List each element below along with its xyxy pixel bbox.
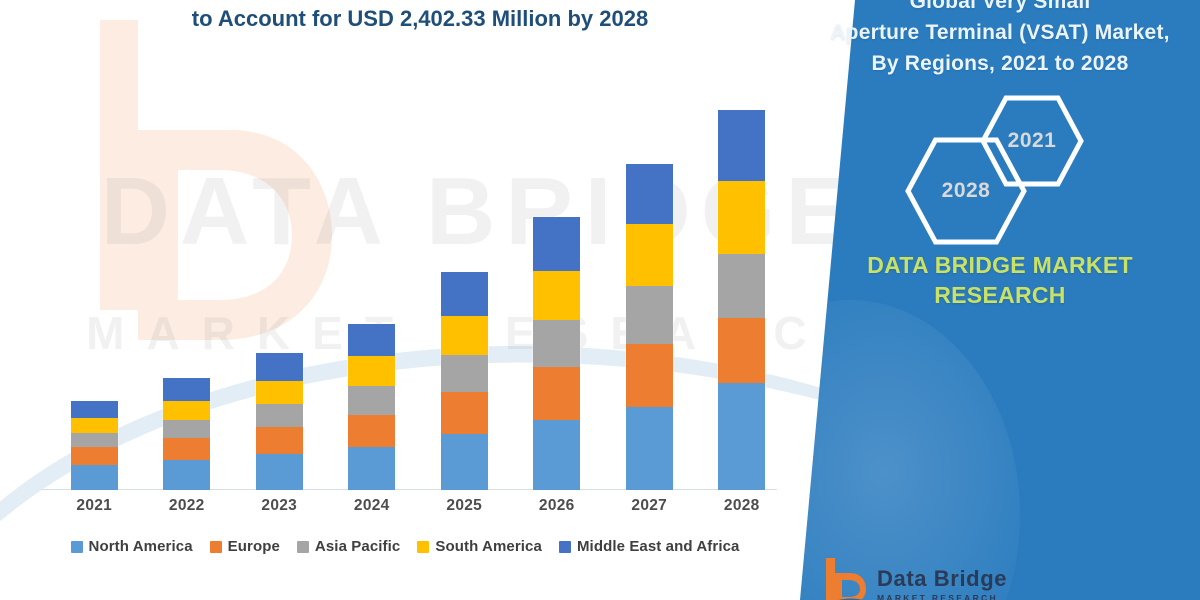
legend-item-middle-east-and-africa[interactable]: Middle East and Africa	[559, 538, 740, 555]
x-axis-label-2026: 2026	[517, 497, 597, 515]
x-axis-labels: 20212022202320242025202620272028	[48, 497, 788, 525]
legend-label: Europe	[228, 538, 280, 555]
bar-segment	[71, 418, 118, 433]
bar-segment	[348, 447, 395, 490]
x-axis-label-2028: 2028	[702, 497, 782, 515]
plot-area	[48, 110, 788, 490]
legend-item-asia-pacific[interactable]: Asia Pacific	[297, 538, 400, 555]
infographic-root: DATA BRIDGE MARKET RESEARCH Global Very …	[0, 0, 1200, 600]
legend-item-south-america[interactable]: South America	[417, 538, 542, 555]
bar-segment	[626, 407, 673, 490]
legend-label: Asia Pacific	[315, 538, 400, 555]
bar-2026	[533, 217, 580, 490]
bar-segment	[718, 181, 765, 255]
bar-2028	[718, 110, 765, 490]
bar-segment	[533, 420, 580, 490]
bar-segment	[256, 353, 303, 381]
brand-name-line-2: RESEARCH	[800, 280, 1200, 310]
legend-label: South America	[435, 538, 542, 555]
bar-segment	[533, 320, 580, 368]
panel-title-line-3: By Regions, 2021 to 2028	[800, 48, 1200, 79]
brand-name-line-1: DATA BRIDGE MARKET	[800, 250, 1200, 280]
bar-segment	[163, 438, 210, 460]
legend-swatch-icon	[417, 541, 429, 553]
bar-segment	[163, 378, 210, 401]
x-axis-label-2021: 2021	[54, 497, 134, 515]
legend-swatch-icon	[559, 541, 571, 553]
bar-segment	[626, 224, 673, 287]
bar-segment	[71, 401, 118, 418]
footer-logo-text: Data Bridge MARKET RESEARCH	[877, 568, 1007, 600]
page-title: Global Very Small Aperture Terminal (VSA…	[0, 0, 840, 34]
bar-segment	[256, 404, 303, 427]
legend-label: Middle East and Africa	[577, 538, 740, 555]
footer-logo-title: Data Bridge	[877, 568, 1007, 590]
bar-segment	[348, 356, 395, 386]
x-axis-label-2024: 2024	[332, 497, 412, 515]
legend-swatch-icon	[71, 541, 83, 553]
bar-segment	[441, 434, 488, 490]
hexagon-badge-2021: 2021	[980, 95, 1084, 187]
x-axis-label-2022: 2022	[147, 497, 227, 515]
bar-2022	[163, 378, 210, 490]
bar-segment	[256, 454, 303, 490]
hexagon-badge-2021-label: 2021	[1008, 129, 1057, 153]
bar-segment	[163, 420, 210, 439]
bar-2023	[256, 353, 303, 490]
bar-segment	[71, 433, 118, 448]
bar-segment	[71, 465, 118, 490]
logo-b-mark-icon	[822, 556, 868, 600]
x-axis-label-2027: 2027	[609, 497, 689, 515]
legend-label: North America	[89, 538, 193, 555]
bar-segment	[441, 355, 488, 392]
page-title-line-2: to Account for USD 2,402.33 Million by 2…	[0, 3, 840, 34]
bar-segment	[626, 344, 673, 407]
legend-swatch-icon	[297, 541, 309, 553]
bar-segment	[71, 447, 118, 465]
bar-segment	[348, 324, 395, 357]
bar-segment	[718, 110, 765, 181]
legend-item-europe[interactable]: Europe	[210, 538, 280, 555]
chart-panel: DATA BRIDGE MARKET RESEARCH Global Very …	[0, 0, 840, 600]
bar-2024	[348, 324, 395, 490]
bar-segment	[441, 272, 488, 316]
bar-segment	[718, 318, 765, 383]
bar-segment	[533, 367, 580, 419]
panel-title: Global Very Small Aperture Terminal (VSA…	[800, 0, 1200, 79]
footer-logo-subtitle: MARKET RESEARCH	[877, 594, 1007, 600]
bar-segment	[441, 392, 488, 434]
data-bridge-logo-icon	[822, 556, 868, 600]
bar-segment	[348, 386, 395, 415]
x-axis-label-2025: 2025	[424, 497, 504, 515]
x-axis-label-2023: 2023	[239, 497, 319, 515]
brand-name: DATA BRIDGE MARKET RESEARCH	[800, 250, 1200, 310]
bar-segment	[718, 383, 765, 490]
footer-logo: Data Bridge MARKET RESEARCH	[822, 556, 1007, 600]
bar-2021	[71, 401, 118, 490]
bar-segment	[163, 460, 210, 490]
chart-legend: North AmericaEuropeAsia PacificSouth Ame…	[0, 538, 810, 555]
bar-segment	[163, 401, 210, 420]
panel-title-line-2: Aperture Terminal (VSAT) Market,	[800, 17, 1200, 48]
panel-title-line-1: Global Very Small	[800, 0, 1200, 17]
bar-segment	[533, 271, 580, 320]
year-hexagons: 2028 2021	[800, 95, 1200, 225]
bar-segment	[626, 164, 673, 224]
hexagon-badge-2028-label: 2028	[942, 179, 991, 203]
bar-segment	[256, 427, 303, 454]
legend-item-north-america[interactable]: North America	[71, 538, 193, 555]
bar-segment	[533, 217, 580, 271]
bar-2027	[626, 163, 673, 490]
bar-segment	[256, 381, 303, 405]
bar-segment	[718, 254, 765, 317]
bar-segment	[441, 316, 488, 354]
bar-2025	[441, 272, 488, 490]
stacked-bar-chart: 20212022202320242025202620272028	[0, 0, 840, 600]
bar-segment	[626, 286, 673, 344]
legend-swatch-icon	[210, 541, 222, 553]
bar-segment	[348, 415, 395, 447]
